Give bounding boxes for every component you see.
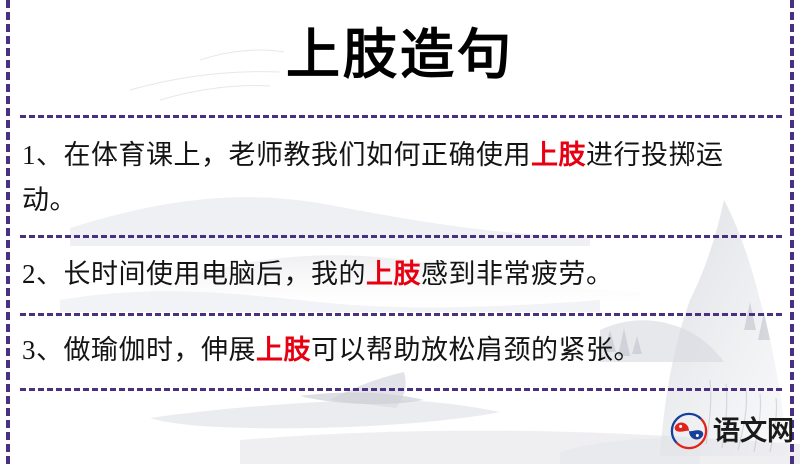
sentence-item-2: 2、长时间使用电脑后，我的上肢感到非常疲劳。 — [22, 252, 774, 297]
sentence-1-keyword: 上肢 — [531, 140, 586, 170]
separator-after-sentence-3 — [20, 388, 782, 391]
page-title: 上肢造句 — [0, 20, 800, 90]
sentence-2-after: 感到非常疲劳。 — [421, 259, 614, 289]
sentence-3-before: 做瑜伽时，伸展 — [64, 335, 257, 365]
site-logo: 语文网 — [670, 412, 794, 450]
sentence-2-index: 2、 — [22, 259, 64, 289]
sentence-item-1: 1、在体育课上，老师教我们如何正确使用上肢进行投掷运动。 — [22, 133, 774, 223]
sentence-1-before: 在体育课上，老师教我们如何正确使用 — [64, 140, 532, 170]
frame-border-right — [790, 0, 794, 464]
sentence-3-keyword: 上肢 — [256, 335, 311, 365]
sentence-3-after: 可以帮助放松肩颈的紧张。 — [311, 335, 641, 365]
site-logo-text: 语文网 — [713, 416, 794, 446]
separator-after-sentence-1 — [20, 235, 782, 238]
separator-after-sentence-2 — [20, 313, 782, 316]
sentence-item-3: 3、做瑜伽时，伸展上肢可以帮助放松肩颈的紧张。 — [22, 328, 774, 373]
yuwen-taiji-fish-icon — [670, 412, 708, 450]
sentence-1-index: 1、 — [22, 140, 64, 170]
separator-under-title — [20, 115, 782, 118]
slide-canvas: 上肢造句 1、在体育课上，老师教我们如何正确使用上肢进行投掷运动。 2、长时间使… — [0, 0, 800, 464]
sentence-2-keyword: 上肢 — [366, 259, 421, 289]
sentence-3-index: 3、 — [22, 335, 64, 365]
frame-border-left — [6, 0, 10, 464]
sentence-2-before: 长时间使用电脑后，我的 — [64, 259, 367, 289]
